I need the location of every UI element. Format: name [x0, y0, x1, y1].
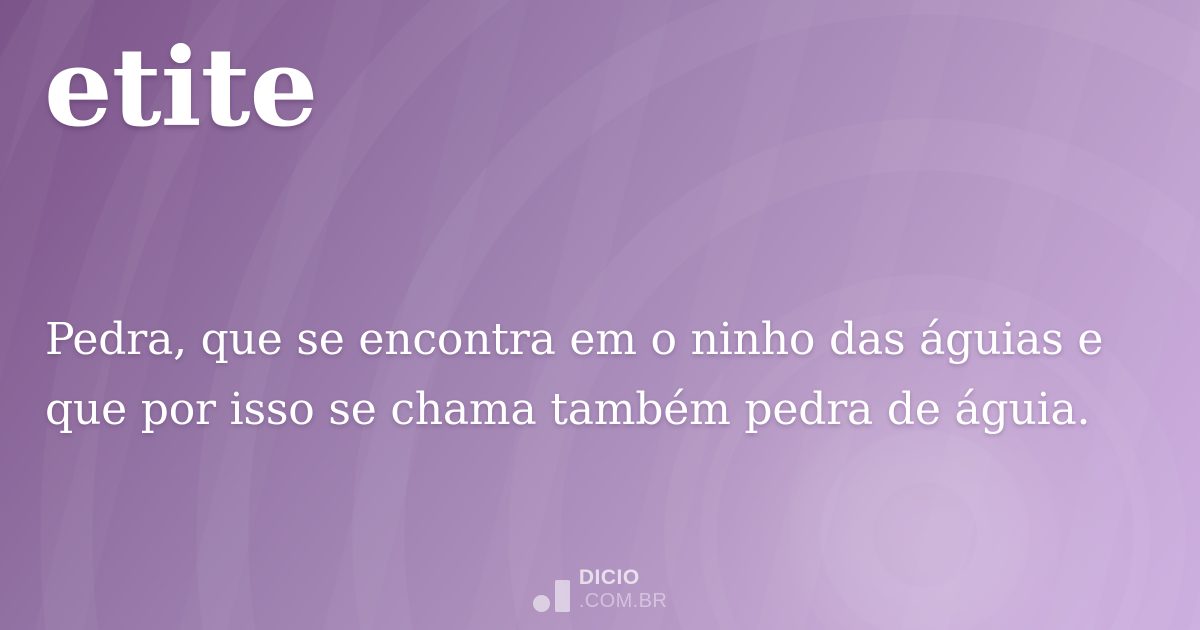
brand-name-label: DICIO	[579, 567, 667, 588]
definition-text: Pedra, que se encontra em o ninho das ág…	[45, 305, 1155, 445]
brand-tld-label: .COM.BR	[579, 591, 667, 611]
brand-wordmark: DICIO .COM.BR	[579, 567, 667, 612]
dicio-logo-icon	[533, 578, 570, 612]
logo-bar-shape	[555, 580, 570, 612]
logo-dot-shape	[533, 595, 550, 612]
brand-logo: DICIO .COM.BR	[0, 567, 1200, 612]
page-title: etite	[44, 28, 317, 149]
word-card: etite Pedra, que se encontra em o ninho …	[0, 0, 1200, 630]
